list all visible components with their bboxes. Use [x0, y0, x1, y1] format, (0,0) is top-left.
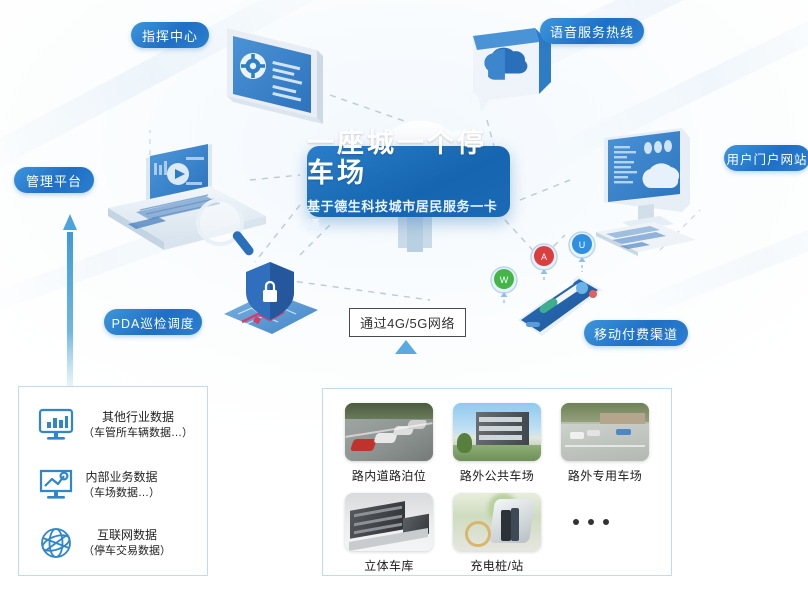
svg-text:U: U	[579, 240, 586, 250]
title-card: 一座城一个停车场 基于德生科技城市居民服务一卡通	[307, 146, 510, 217]
scenario-label: 路内道路泊位	[345, 467, 433, 484]
network-up-arrow-icon	[395, 340, 417, 354]
more-scenarios-ellipsis	[573, 519, 609, 525]
ev-charging-photo	[453, 493, 541, 551]
scenario-card[interactable]: 路外专用车场	[561, 403, 649, 484]
line-chart-monitor-icon	[33, 463, 79, 507]
data-flow-up-arrow-icon	[63, 214, 77, 386]
scenario-label: 充电桩/站	[453, 557, 541, 574]
page-subtitle: 基于德生科技城市居民服务一卡通	[307, 196, 510, 234]
dot	[603, 519, 609, 525]
bar-chart-monitor-icon	[33, 403, 79, 447]
pda-security-shield-illustration	[212, 252, 332, 347]
dedicated-parking-lot-photo	[561, 403, 649, 461]
scenario-card[interactable]: 路外公共车场	[453, 403, 541, 484]
data-source-row[interactable]: 其他行业数据 （车管所车辆数据…）	[33, 403, 195, 447]
svg-text:A: A	[541, 252, 547, 262]
infographic-canvas: W A U 一座城一个停车场 基于德生科技城市居民服务一卡通 指挥中心 语音服务…	[0, 0, 808, 590]
data-source-row[interactable]: 内部业务数据 （车场数据…）	[33, 463, 195, 507]
network-type-box: 通过4G/5G网络	[349, 308, 466, 337]
label-voice-hotline[interactable]: 语音服务热线	[540, 18, 644, 44]
data-source-subtitle: （停车交易数据）	[83, 544, 171, 559]
public-parking-building-photo	[453, 403, 541, 461]
command-center-monitor-illustration	[205, 14, 345, 134]
label-pda-patrol[interactable]: PDA巡检调度	[104, 309, 202, 335]
page-title: 一座城一个停车场	[307, 129, 510, 188]
data-source-subtitle: （车场数据…）	[83, 486, 160, 501]
label-management-platform[interactable]: 管理平台	[14, 167, 94, 193]
data-sources-panel: 其他行业数据 （车管所车辆数据…） 内部业务数据 （车场数据…）	[18, 386, 208, 576]
multi-level-garage-photo	[345, 493, 433, 551]
scenario-label: 路外专用车场	[561, 467, 649, 484]
data-source-title: 互联网数据	[83, 527, 171, 543]
scenario-card[interactable]: 路内道路泊位	[345, 403, 433, 484]
dot	[588, 519, 594, 525]
dot	[573, 519, 579, 525]
data-source-row[interactable]: 互联网数据 （停车交易数据）	[33, 521, 195, 565]
parking-scenarios-panel: 路内道路泊位 路外公共车场 路外专用车场	[322, 388, 672, 576]
scenario-label: 路外公共车场	[453, 467, 541, 484]
globe-icon	[33, 521, 79, 565]
scenario-card[interactable]: 充电桩/站	[453, 493, 541, 574]
svg-text:W: W	[500, 275, 509, 285]
scenario-card[interactable]: 立体车库	[345, 493, 433, 574]
label-command-center[interactable]: 指挥中心	[131, 22, 209, 48]
street-parking-photo	[345, 403, 433, 461]
data-source-subtitle: （车管所车辆数据…）	[83, 426, 193, 441]
data-source-title: 其他行业数据	[83, 409, 193, 425]
scenario-label: 立体车库	[345, 557, 433, 574]
data-source-title: 内部业务数据	[83, 469, 160, 485]
label-user-portal[interactable]: 用户门户网站	[724, 145, 808, 171]
label-mobile-payment[interactable]: 移动付费渠道	[584, 320, 688, 346]
